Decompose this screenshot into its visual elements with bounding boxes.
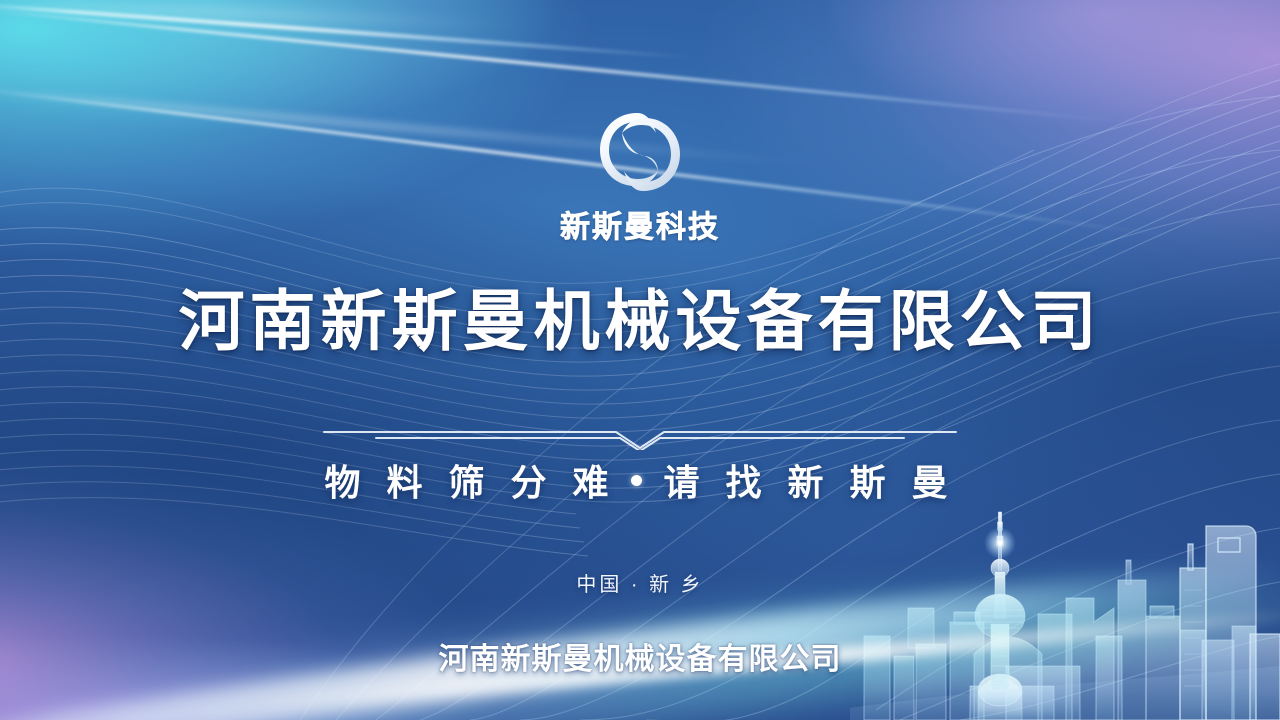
page-title: 河南新斯曼机械设备有限公司	[179, 290, 1102, 356]
sinsman-wave-mark-icon	[589, 108, 691, 196]
slogan: 物 料 筛 分 难 请 找 新 斯 曼	[324, 454, 955, 506]
slogan-right: 请 找 新 斯 曼	[664, 454, 956, 506]
slogan-separator-dot-icon	[631, 475, 642, 486]
title-slide: 新斯曼科技 河南新斯曼机械设备有限公司 物 料 筛 分 难 请 找 新 斯 曼 …	[0, 0, 1280, 720]
brand-logo-block: 新斯曼科技	[560, 108, 720, 246]
brand-wordmark: 新斯曼科技	[560, 202, 720, 246]
chevron-divider-ornament-icon	[320, 424, 960, 450]
slide-content: 新斯曼科技 河南新斯曼机械设备有限公司 物 料 筛 分 难 请 找 新 斯 曼 …	[0, 0, 1280, 720]
footer-caption: 河南新斯曼机械设备有限公司	[0, 634, 1280, 678]
location-label: 中国 · 新 乡	[576, 568, 703, 597]
slogan-left: 物 料 筛 分 难	[324, 454, 616, 506]
